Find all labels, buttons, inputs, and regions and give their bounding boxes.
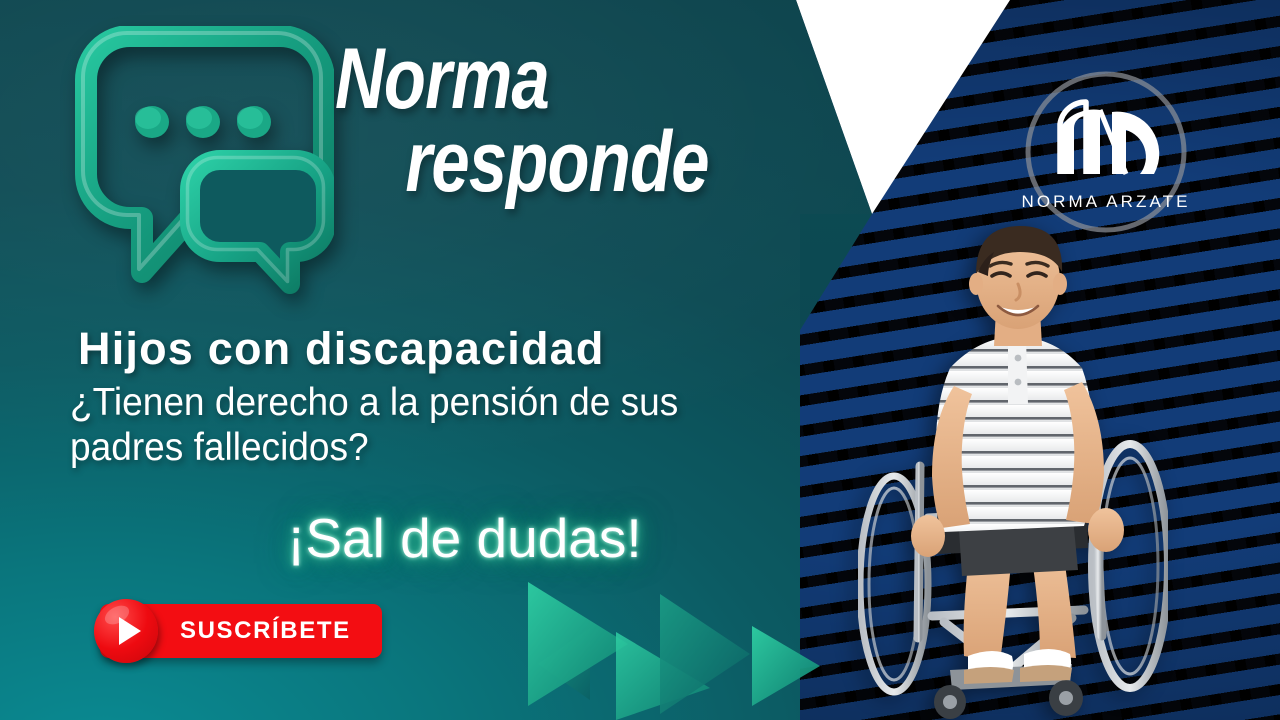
brand-name: NORMA ARZATE	[1021, 192, 1190, 211]
speech-bubbles-icon	[72, 26, 334, 294]
headline-block: Hijos con discapacidad ¿Tienen derecho a…	[78, 326, 878, 470]
chevron-arrow-cluster	[520, 568, 860, 720]
headline-question-line-2: padres fallecidos?	[70, 426, 838, 471]
brand-logo: NORMA ARZATE	[1016, 62, 1196, 242]
play-triangle	[119, 617, 141, 645]
headline-main: Hijos con discapacidad	[78, 326, 878, 373]
cta-text: ¡Sal de dudas!	[287, 506, 642, 570]
thumbnail-canvas: Norma responde Hijos con discapacidad ¿T…	[0, 0, 1280, 720]
headline-question-line-1: ¿Tienen derecho a la pensión de sus	[70, 381, 838, 426]
play-icon	[94, 599, 158, 663]
show-title-line-1: Norma	[335, 38, 751, 121]
subscribe-label: SUSCRÍBETE	[180, 617, 351, 645]
wheelchair-photo	[858, 218, 1168, 720]
show-title-line-2: responde	[335, 121, 751, 204]
subscribe-button[interactable]: SUSCRÍBETE	[100, 604, 382, 658]
show-title: Norma responde	[335, 38, 751, 203]
